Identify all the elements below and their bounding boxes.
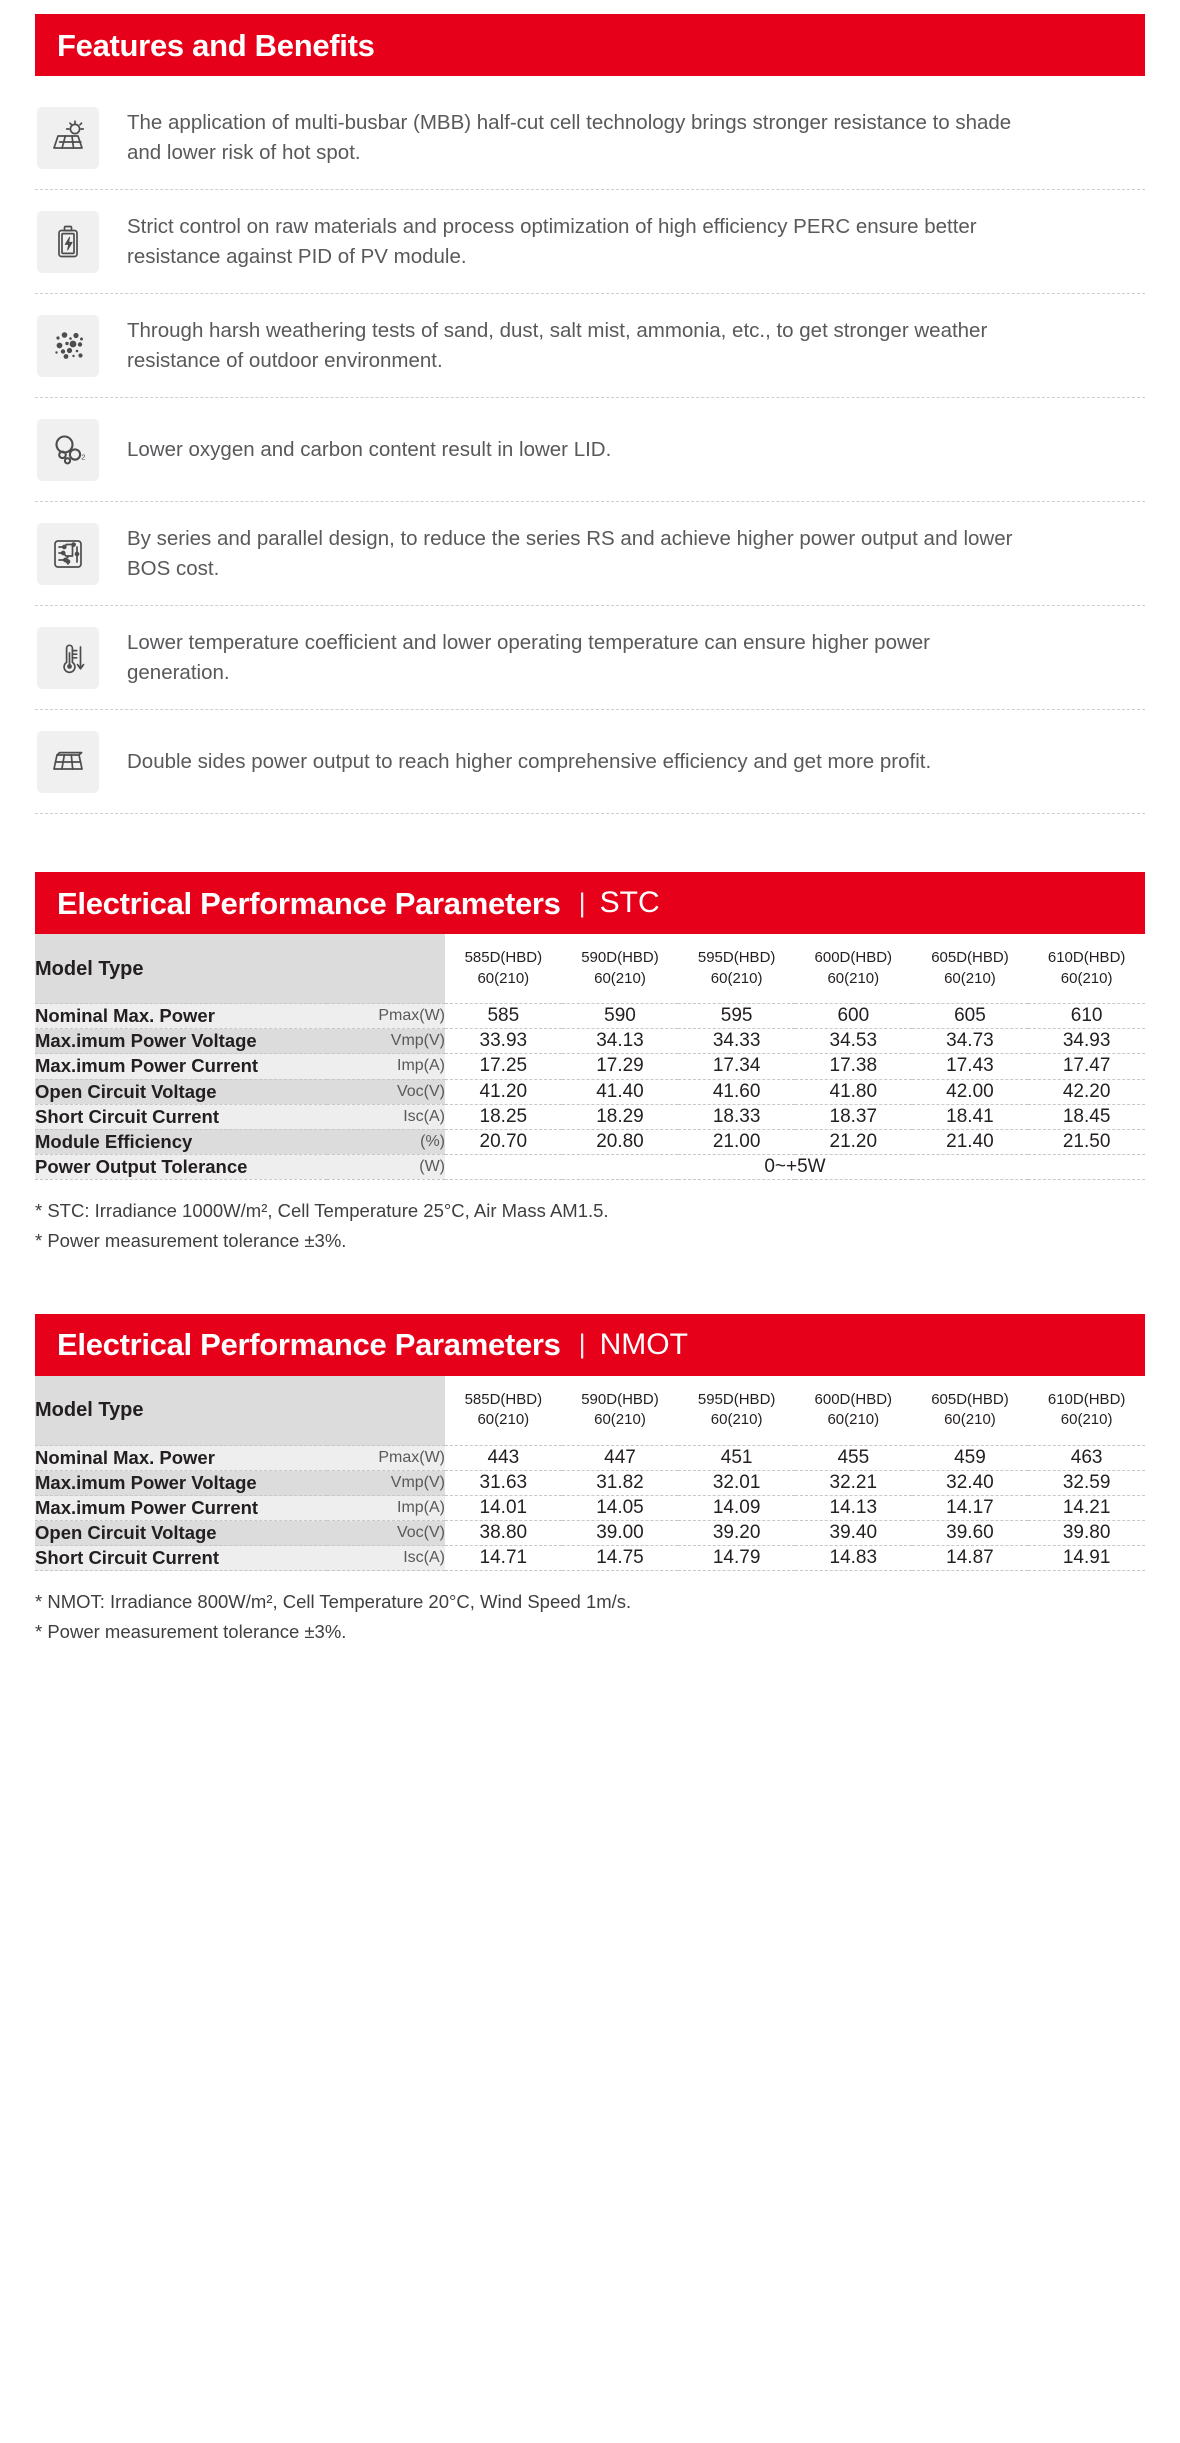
cell-value: 14.13	[795, 1496, 912, 1521]
table-row: Nominal Max. Power Pmax(W) 443 447 451 4…	[35, 1446, 1145, 1471]
note-line: * NMOT: Irradiance 800W/m², Cell Tempera…	[35, 1587, 1145, 1617]
cell-value: 14.09	[678, 1496, 795, 1521]
table-header-row: Model Type 585D(HBD) 60(210) 590D(HBD) 6…	[35, 934, 1145, 1004]
features-banner: Features and Benefits	[35, 14, 1145, 76]
table-row: Nominal Max. Power Pmax(W) 585 590 595 6…	[35, 1004, 1145, 1029]
cell-value: 33.93	[445, 1029, 562, 1054]
features-list: The application of multi-busbar (MBB) ha…	[35, 76, 1145, 814]
row-unit: Pmax(W)	[327, 1004, 445, 1029]
features-banner-title: Features and Benefits	[57, 30, 375, 61]
row-label: Open Circuit Voltage	[35, 1079, 327, 1104]
cell-value: 590	[562, 1004, 679, 1029]
row-label: Max.imum Power Current	[35, 1054, 327, 1079]
cell-value-merged: 0~+5W	[445, 1154, 1145, 1179]
cell-value: 42.00	[912, 1079, 1029, 1104]
cell-value: 14.91	[1028, 1546, 1145, 1571]
model-column-header: 610D(HBD) 60(210)	[1028, 934, 1145, 1004]
cell-value: 18.41	[912, 1104, 1029, 1129]
cell-value: 14.87	[912, 1546, 1029, 1571]
feature-item: Strict control on raw materials and proc…	[35, 190, 1145, 294]
cell-value: 21.00	[678, 1129, 795, 1154]
cell-value: 17.38	[795, 1054, 912, 1079]
cell-value: 14.83	[795, 1546, 912, 1571]
model-type-unit-blank	[327, 1376, 445, 1446]
cell-value: 18.33	[678, 1104, 795, 1129]
row-label: Max.imum Power Voltage	[35, 1471, 327, 1496]
feature-item-text: Lower temperature coefficient and lower …	[127, 628, 1027, 686]
cell-value: 20.80	[562, 1129, 679, 1154]
row-unit: Isc(A)	[327, 1546, 445, 1571]
row-label: Nominal Max. Power	[35, 1004, 327, 1029]
cell-value: 39.80	[1028, 1521, 1145, 1546]
row-label: Short Circuit Current	[35, 1546, 327, 1571]
datasheet-page: Features and Benefits The application of…	[0, 0, 1180, 1681]
model-type-label: Model Type	[35, 1376, 327, 1446]
cell-value: 21.20	[795, 1129, 912, 1154]
cell-value: 34.93	[1028, 1029, 1145, 1054]
cell-value: 595	[678, 1004, 795, 1029]
cell-value: 34.13	[562, 1029, 679, 1054]
cell-value: 39.60	[912, 1521, 1029, 1546]
dust-particles-icon	[37, 315, 99, 377]
table-row: Short Circuit Current Isc(A) 18.25 18.29…	[35, 1104, 1145, 1129]
feature-item-text: The application of multi-busbar (MBB) ha…	[127, 108, 1027, 166]
nmot-banner-title: Electrical Performance Parameters	[57, 1329, 561, 1360]
stc-table-wrap: Model Type 585D(HBD) 60(210) 590D(HBD) 6…	[35, 934, 1145, 1180]
cell-value: 39.40	[795, 1521, 912, 1546]
stc-banner-separator: |	[579, 890, 586, 917]
cell-value: 18.29	[562, 1104, 679, 1129]
cell-value: 600	[795, 1004, 912, 1029]
cell-value: 14.75	[562, 1546, 679, 1571]
cell-value: 18.45	[1028, 1104, 1145, 1129]
cell-value: 605	[912, 1004, 1029, 1029]
cell-value: 585	[445, 1004, 562, 1029]
stc-banner-subtitle: STC	[600, 888, 660, 918]
nmot-table-wrap: Model Type 585D(HBD) 60(210) 590D(HBD) 6…	[35, 1376, 1145, 1572]
cell-value: 21.50	[1028, 1129, 1145, 1154]
cell-value: 14.21	[1028, 1496, 1145, 1521]
cell-value: 39.00	[562, 1521, 679, 1546]
table-row: Short Circuit Current Isc(A) 14.71 14.75…	[35, 1546, 1145, 1571]
cell-value: 14.05	[562, 1496, 679, 1521]
cell-value: 18.37	[795, 1104, 912, 1129]
row-label: Max.imum Power Current	[35, 1496, 327, 1521]
table-row: Open Circuit Voltage Voc(V) 38.80 39.00 …	[35, 1521, 1145, 1546]
stc-table: Model Type 585D(HBD) 60(210) 590D(HBD) 6…	[35, 934, 1145, 1180]
feature-item-text: Strict control on raw materials and proc…	[127, 212, 1027, 270]
cell-value: 443	[445, 1446, 562, 1471]
feature-item: 2 Lower oxygen and carbon content result…	[35, 398, 1145, 502]
model-column-header: 595D(HBD) 60(210)	[678, 934, 795, 1004]
row-unit: Voc(V)	[327, 1079, 445, 1104]
circuit-board-icon	[37, 523, 99, 585]
table-header-row: Model Type 585D(HBD) 60(210) 590D(HBD) 6…	[35, 1376, 1145, 1446]
model-column-header: 600D(HBD) 60(210)	[795, 1376, 912, 1446]
feature-item-text: Double sides power output to reach highe…	[127, 747, 931, 776]
cell-value: 41.20	[445, 1079, 562, 1104]
cell-value: 14.71	[445, 1546, 562, 1571]
row-label: Nominal Max. Power	[35, 1446, 327, 1471]
row-unit: Vmp(V)	[327, 1471, 445, 1496]
stc-banner-title: Electrical Performance Parameters	[57, 888, 561, 919]
battery-bolt-icon	[37, 211, 99, 273]
row-label: Module Efficiency	[35, 1129, 327, 1154]
nmot-banner: Electrical Performance Parameters | NMOT	[35, 1314, 1145, 1376]
feature-item: The application of multi-busbar (MBB) ha…	[35, 86, 1145, 190]
cell-value: 41.80	[795, 1079, 912, 1104]
cell-value: 32.59	[1028, 1471, 1145, 1496]
svg-text:2: 2	[81, 452, 85, 461]
solar-panel-sun-icon	[37, 107, 99, 169]
row-unit: Pmax(W)	[327, 1446, 445, 1471]
cell-value: 34.73	[912, 1029, 1029, 1054]
note-line: * Power measurement tolerance ±3%.	[35, 1226, 1145, 1256]
oxygen-bubbles-icon: 2	[37, 419, 99, 481]
nmot-table: Model Type 585D(HBD) 60(210) 590D(HBD) 6…	[35, 1376, 1145, 1572]
feature-item-text: Through harsh weathering tests of sand, …	[127, 316, 1027, 374]
cell-value: 38.80	[445, 1521, 562, 1546]
cell-value: 17.43	[912, 1054, 1029, 1079]
row-label: Max.imum Power Voltage	[35, 1029, 327, 1054]
cell-value: 17.29	[562, 1054, 679, 1079]
row-unit: Imp(A)	[327, 1496, 445, 1521]
note-line: * STC: Irradiance 1000W/m², Cell Tempera…	[35, 1196, 1145, 1226]
row-unit: Vmp(V)	[327, 1029, 445, 1054]
row-unit: Voc(V)	[327, 1521, 445, 1546]
cell-value: 31.82	[562, 1471, 679, 1496]
cell-value: 18.25	[445, 1104, 562, 1129]
table-row-merged: Power Output Tolerance (W) 0~+5W	[35, 1154, 1145, 1179]
cell-value: 14.17	[912, 1496, 1029, 1521]
table-row: Max.imum Power Voltage Vmp(V) 31.63 31.8…	[35, 1471, 1145, 1496]
stc-notes: * STC: Irradiance 1000W/m², Cell Tempera…	[35, 1196, 1145, 1256]
row-unit: (%)	[327, 1129, 445, 1154]
table-row: Module Efficiency (%) 20.70 20.80 21.00 …	[35, 1129, 1145, 1154]
table-row: Open Circuit Voltage Voc(V) 41.20 41.40 …	[35, 1079, 1145, 1104]
feature-item: By series and parallel design, to reduce…	[35, 502, 1145, 606]
model-column-header: 600D(HBD) 60(210)	[795, 934, 912, 1004]
model-column-header: 590D(HBD) 60(210)	[562, 934, 679, 1004]
table-row: Max.imum Power Current Imp(A) 14.01 14.0…	[35, 1496, 1145, 1521]
model-column-header: 605D(HBD) 60(210)	[912, 1376, 1029, 1446]
feature-item-text: Lower oxygen and carbon content result i…	[127, 435, 611, 464]
model-column-header: 595D(HBD) 60(210)	[678, 1376, 795, 1446]
cell-value: 34.53	[795, 1029, 912, 1054]
cell-value: 17.25	[445, 1054, 562, 1079]
cell-value: 455	[795, 1446, 912, 1471]
cell-value: 41.40	[562, 1079, 679, 1104]
model-column-header: 610D(HBD) 60(210)	[1028, 1376, 1145, 1446]
model-column-header: 585D(HBD) 60(210)	[445, 934, 562, 1004]
cell-value: 451	[678, 1446, 795, 1471]
row-unit: (W)	[327, 1154, 445, 1179]
cell-value: 447	[562, 1446, 679, 1471]
model-column-header: 605D(HBD) 60(210)	[912, 934, 1029, 1004]
cell-value: 42.20	[1028, 1079, 1145, 1104]
cell-value: 17.47	[1028, 1054, 1145, 1079]
stc-banner: Electrical Performance Parameters | STC	[35, 872, 1145, 934]
cell-value: 32.21	[795, 1471, 912, 1496]
row-label: Short Circuit Current	[35, 1104, 327, 1129]
cell-value: 459	[912, 1446, 1029, 1471]
cell-value: 20.70	[445, 1129, 562, 1154]
row-unit: Isc(A)	[327, 1104, 445, 1129]
row-label: Open Circuit Voltage	[35, 1521, 327, 1546]
table-row: Max.imum Power Voltage Vmp(V) 33.93 34.1…	[35, 1029, 1145, 1054]
cell-value: 14.79	[678, 1546, 795, 1571]
cell-value: 610	[1028, 1004, 1145, 1029]
cell-value: 34.33	[678, 1029, 795, 1054]
model-column-header: 585D(HBD) 60(210)	[445, 1376, 562, 1446]
cell-value: 17.34	[678, 1054, 795, 1079]
model-column-header: 590D(HBD) 60(210)	[562, 1376, 679, 1446]
cell-value: 41.60	[678, 1079, 795, 1104]
thermometer-down-icon	[37, 627, 99, 689]
model-type-label: Model Type	[35, 934, 327, 1004]
nmot-banner-subtitle: NMOT	[600, 1330, 688, 1360]
cell-value: 21.40	[912, 1129, 1029, 1154]
feature-item: Double sides power output to reach highe…	[35, 710, 1145, 814]
row-unit: Imp(A)	[327, 1054, 445, 1079]
feature-item: Lower temperature coefficient and lower …	[35, 606, 1145, 710]
note-line: * Power measurement tolerance ±3%.	[35, 1617, 1145, 1647]
model-type-unit-blank	[327, 934, 445, 1004]
nmot-notes: * NMOT: Irradiance 800W/m², Cell Tempera…	[35, 1587, 1145, 1647]
cell-value: 31.63	[445, 1471, 562, 1496]
table-row: Max.imum Power Current Imp(A) 17.25 17.2…	[35, 1054, 1145, 1079]
cell-value: 39.20	[678, 1521, 795, 1546]
row-label: Power Output Tolerance	[35, 1154, 327, 1179]
cell-value: 14.01	[445, 1496, 562, 1521]
cell-value: 32.40	[912, 1471, 1029, 1496]
bifacial-panel-icon	[37, 731, 99, 793]
cell-value: 463	[1028, 1446, 1145, 1471]
feature-item: Through harsh weathering tests of sand, …	[35, 294, 1145, 398]
nmot-banner-separator: |	[579, 1331, 586, 1358]
feature-item-text: By series and parallel design, to reduce…	[127, 524, 1027, 582]
cell-value: 32.01	[678, 1471, 795, 1496]
